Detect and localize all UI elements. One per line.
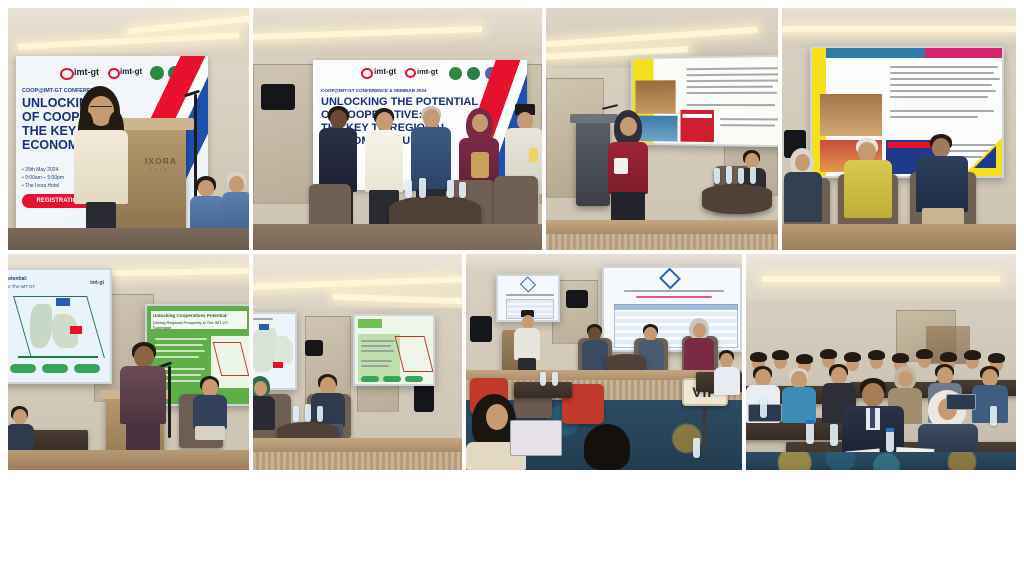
slide-title-2: Driving Regional Prosperity in The IMT-G… — [153, 320, 245, 330]
photo-audience-vip: VIP — [466, 254, 742, 470]
projection-screen — [810, 46, 1004, 178]
person-front-row — [842, 378, 904, 450]
vip-sign-post — [702, 404, 707, 454]
poster-collage: imt-gt imt-gt COOP@IMT-GT CONFERENCE UNL… — [0, 0, 1024, 576]
projection-screen-right — [602, 266, 742, 352]
photo-speaker-map-slide: otential: n The IMT-GT imt-gt Unl — [8, 254, 249, 470]
person-speaker — [70, 86, 132, 246]
photo-collage: imt-gt imt-gt COOP@IMT-GT CONFERENCE UNL… — [0, 0, 1024, 473]
person-presenter — [608, 110, 648, 234]
projection-screen — [631, 55, 778, 148]
backdrop-event-line: COOP@IMT-GT CONFERENCE & SEMINAR 2024 — [321, 88, 427, 93]
photo-group-photo-five: imt-gt imt-gt H▪B coop COOP@IMT-GT CONFE… — [253, 8, 542, 250]
photo-presenter-slide-yellow — [546, 8, 778, 250]
projection-screen-green — [353, 314, 435, 386]
podium-brand: IXORA — [136, 156, 186, 166]
footer-bar: imt-gt INDONESIA-MALAYSIA-THAILAND GROWT… — [0, 473, 1024, 576]
laptop — [510, 420, 562, 456]
podium-brand-sub: HOTEL — [136, 167, 186, 172]
slide-title-1: Unlocking Cooperatives Potential: — [153, 313, 228, 318]
photo-audience-seated — [746, 254, 1016, 470]
photo-speaker-podium-backdrop: imt-gt imt-gt COOP@IMT-GT CONFERENCE UNL… — [8, 8, 249, 250]
photo-panel-discussion-slide — [782, 8, 1016, 250]
projection-screen-map: otential: n The IMT-GT imt-gt — [8, 268, 112, 384]
photo-stage-two-screens — [253, 254, 462, 470]
